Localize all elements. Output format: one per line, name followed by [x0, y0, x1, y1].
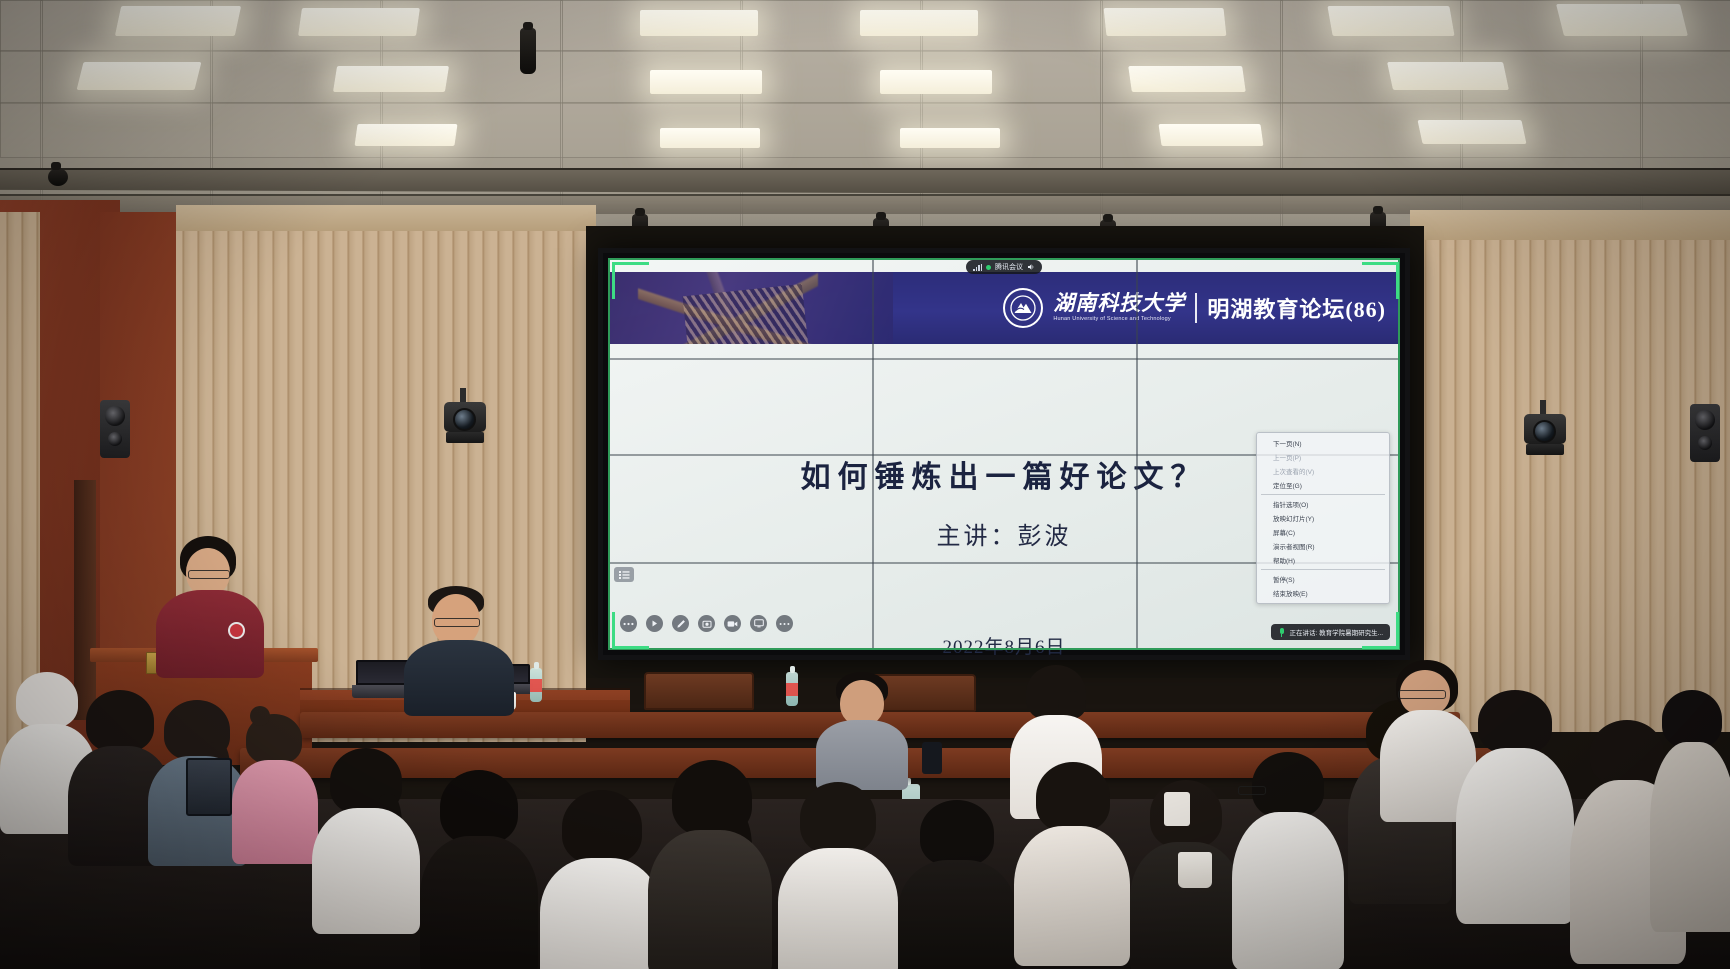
- ceiling-spotlight: [520, 28, 536, 74]
- active-speaker-label: 正在讲话: 教育学院暑期研究生...: [1289, 627, 1383, 637]
- ceiling-light: [1158, 124, 1263, 146]
- slideshow-context-menu[interactable]: 下一页(N) 上一页(P) 上次查看的(V) 定位至(G) 指针选项(O) 放映…: [1256, 432, 1390, 604]
- menu-separator: [1261, 494, 1385, 495]
- slide-header-banner: 湖南科技大学 Hunan University of Science and T…: [608, 272, 1400, 344]
- ptz-camera-right: [1524, 400, 1572, 458]
- wall-upper-back: [176, 205, 596, 231]
- shared-slide: 腾讯会议 湖南科技大学 Hunan University o: [608, 258, 1400, 650]
- ptz-camera-left: [444, 388, 492, 446]
- ceiling-light: [1327, 6, 1454, 36]
- menu-item[interactable]: 指针选项(O): [1257, 497, 1389, 511]
- torso: [404, 640, 514, 716]
- ceiling-light: [354, 124, 457, 146]
- wall-wood-slats-right: [1418, 232, 1730, 732]
- forum-title: 明湖教育论坛(86): [1207, 292, 1386, 324]
- header-divider: [1195, 293, 1197, 323]
- ceiling-speaker-right: [1690, 404, 1720, 462]
- glasses: [434, 618, 480, 627]
- menu-item: 上次查看的(V): [1257, 464, 1389, 478]
- badge: [228, 622, 245, 639]
- list-menu-icon[interactable]: [614, 567, 634, 582]
- recording-dot-icon: [986, 265, 991, 270]
- water-bottle: [530, 668, 542, 702]
- share-screen-icon[interactable]: [750, 615, 767, 632]
- phone-device: [922, 742, 942, 774]
- ceiling-light: [1387, 62, 1509, 90]
- menu-item[interactable]: 屏幕(C): [1257, 525, 1389, 539]
- menu-item[interactable]: 暂停(S): [1257, 572, 1389, 586]
- menu-item[interactable]: 结束放映(E): [1257, 586, 1389, 600]
- audience-member: [540, 790, 662, 969]
- university-name-block: 湖南科技大学 Hunan University of Science and T…: [1053, 293, 1185, 323]
- ceiling-spotlight: [48, 168, 68, 186]
- screen-share-toolbar[interactable]: [620, 615, 793, 632]
- audience-member: [1650, 690, 1730, 930]
- wall-upper-back-right: [1410, 210, 1730, 240]
- ceiling-speaker-left: [100, 400, 130, 458]
- tablet-device: [186, 758, 232, 816]
- camera-video-icon[interactable]: [724, 615, 741, 632]
- menu-separator: [1261, 569, 1385, 570]
- ceiling-light: [650, 70, 762, 94]
- ceiling-light: [1104, 8, 1227, 36]
- lecture-hall-photo: 腾讯会议 湖南科技大学 Hunan University o: [0, 0, 1730, 969]
- audience-member: [1456, 690, 1574, 920]
- ceiling-light: [900, 128, 1000, 148]
- ceiling-light: [860, 10, 978, 36]
- presenter-at-podium: [150, 536, 270, 676]
- menu-item[interactable]: 帮助(H): [1257, 553, 1389, 567]
- torso: [156, 590, 264, 678]
- ceiling-light: [660, 128, 760, 148]
- audience-member: [898, 800, 1016, 969]
- hnust-logo-icon: [1003, 288, 1043, 328]
- play-pause-icon[interactable]: [646, 615, 663, 632]
- ceiling-light: [1128, 66, 1246, 92]
- audience-member: [648, 760, 772, 969]
- audience-member: [312, 748, 420, 928]
- ceiling-light: [333, 66, 449, 92]
- audience-member: [420, 770, 538, 969]
- cup-foreground: [1178, 852, 1212, 888]
- tm-pill-label: 腾讯会议: [995, 262, 1023, 272]
- menu-item[interactable]: 下一页(N): [1257, 436, 1389, 450]
- audience-member: [778, 782, 898, 969]
- water-bottle: [786, 672, 798, 706]
- share-corner-marker: [612, 262, 649, 299]
- seated-host: [404, 586, 514, 706]
- audience-member-front-right: [816, 672, 908, 782]
- share-corner-marker: [1362, 262, 1399, 299]
- menu-item[interactable]: 放映幻灯片(Y): [1257, 511, 1389, 525]
- annotate-pen-icon[interactable]: [672, 615, 689, 632]
- audience-member: [1014, 762, 1130, 962]
- ceiling-light: [1556, 4, 1688, 36]
- header-identity-block: 湖南科技大学 Hunan University of Science and T…: [1003, 272, 1386, 344]
- menu-item[interactable]: 演示者视图(R): [1257, 539, 1389, 553]
- ceiling-light: [298, 8, 420, 36]
- active-speaker-strip: 正在讲话: 教育学院暑期研究生...: [1271, 624, 1390, 640]
- screenshot-icon[interactable]: [698, 615, 715, 632]
- torso: [816, 720, 908, 790]
- menu-item: 上一页(P): [1257, 450, 1389, 464]
- university-name-cn: 湖南科技大学: [1053, 293, 1185, 314]
- glasses: [188, 570, 230, 579]
- ceiling-light: [77, 62, 202, 90]
- ceiling-light: [115, 6, 241, 36]
- mic-on-icon: [1278, 628, 1285, 637]
- ceiling-light: [1417, 120, 1526, 144]
- audience-member-child: [232, 714, 318, 864]
- overflow-icon[interactable]: [776, 615, 793, 632]
- signal-bars-icon: [973, 264, 982, 271]
- phone-device: [1164, 792, 1190, 826]
- header-decorative-architecture-image: [608, 272, 893, 344]
- ceiling-light: [640, 10, 758, 36]
- speaker-icon: [1027, 263, 1035, 271]
- stage-chair: [644, 672, 754, 710]
- tencent-meeting-status-pill: 腾讯会议: [966, 260, 1042, 274]
- ceiling-light: [880, 70, 992, 94]
- university-name-en: Hunan University of Science and Technolo…: [1053, 317, 1185, 323]
- more-options-icon[interactable]: [620, 615, 637, 632]
- audience-member: [1232, 752, 1344, 967]
- menu-item[interactable]: 定位至(G): [1257, 478, 1389, 492]
